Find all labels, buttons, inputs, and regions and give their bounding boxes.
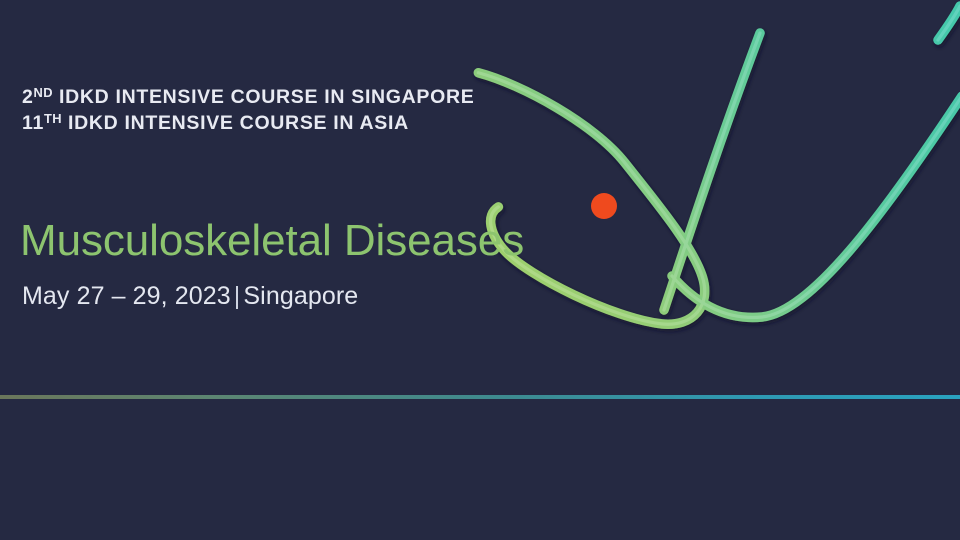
lower-panel [0,399,960,540]
edition-ordinal-suffix: TH [44,111,62,126]
details-separator: | [231,282,244,310]
edition-ordinal-suffix: ND [34,85,53,100]
course-edition-asia: 11TH IDKD INTENSIVE COURSE IN ASIA [22,110,409,138]
edition-label: IDKD INTENSIVE COURSE IN ASIA [62,112,409,134]
edition-ordinal-number: 11 [22,112,44,134]
edition-label: IDKD INTENSIVE COURSE IN SINGAPORE [53,86,475,108]
event-location: Singapore [243,282,358,310]
banner-text-block: 2ND IDKD INTENSIVE COURSE IN SINGAPORE 1… [20,0,580,400]
event-dates: May 27 – 29, 2023 [22,282,231,310]
ribbon-corner-tail [938,6,960,40]
page-title: Musculoskeletal Diseases [20,215,524,267]
conference-banner: 2ND IDKD INTENSIVE COURSE IN SINGAPORE 1… [0,0,960,540]
event-details: May 27 – 29, 2023|Singapore [22,280,358,312]
course-edition-singapore: 2ND IDKD INTENSIVE COURSE IN SINGAPORE [22,84,474,112]
ribbon-valley-strand [672,96,960,317]
ribbon-top-strand [664,33,760,310]
orange-accent-dot [591,193,617,219]
edition-ordinal-number: 2 [22,86,34,108]
